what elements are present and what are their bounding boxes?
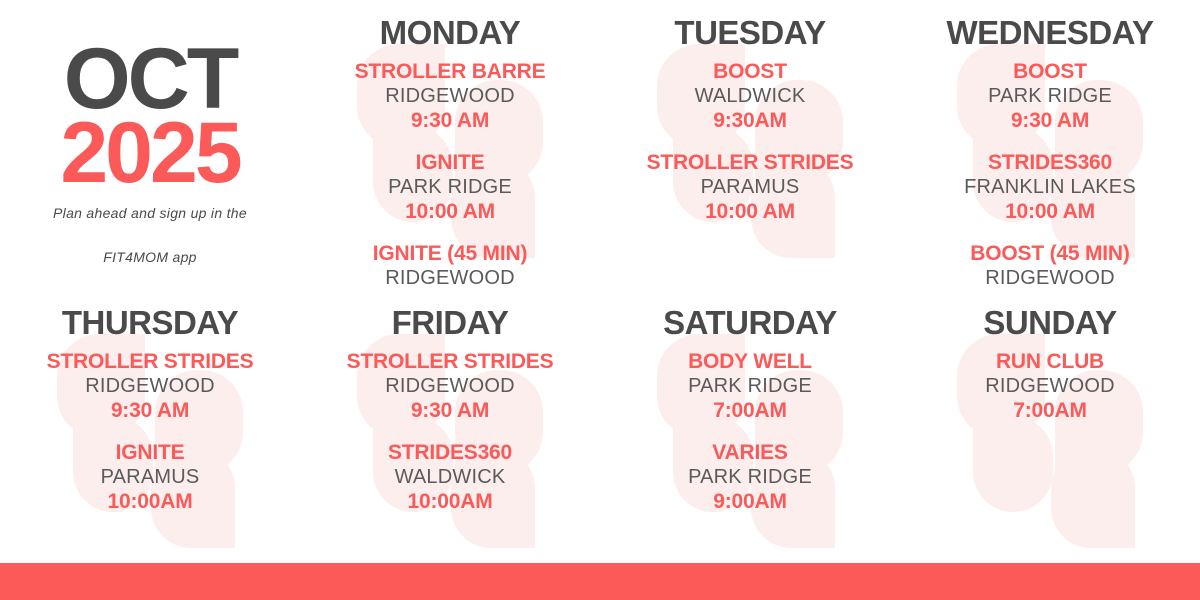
tagline-text: Plan ahead and sign up in the <box>0 204 300 222</box>
day-heading-friday: FRIDAY <box>300 304 600 342</box>
day-heading-sunday: SUNDAY <box>900 304 1200 342</box>
day-heading-wednesday: WEDNESDAY <box>900 14 1200 52</box>
day-column-saturday: SATURDAY BODY WELL PARK RIDGE 7:00AM VAR… <box>600 290 900 563</box>
class-location: WALDWICK <box>300 465 600 489</box>
class-location: WALDWICK <box>600 84 900 108</box>
class-entry[interactable]: IGNITE (45 MIN) RIDGEWOOD 5:00PM <box>300 241 600 290</box>
class-name: STRIDES360 <box>300 440 600 465</box>
class-entry[interactable]: STRIDES360 WALDWICK 10:00AM <box>300 440 600 514</box>
class-entry[interactable]: IGNITE PARAMUS 10:00AM <box>0 440 300 514</box>
day-column-thursday: THURSDAY STROLLER STRIDES RIDGEWOOD 9:30… <box>0 290 300 563</box>
weekly-schedule-grid: OCT 2025 Plan ahead and sign up in the F… <box>0 0 1200 563</box>
class-entry[interactable]: STRIDES360 FRANKLIN LAKES 10:00 AM <box>900 150 1200 224</box>
class-time: 10:00 AM <box>600 199 900 224</box>
class-list-monday: STROLLER BARRE RIDGEWOOD 9:30 AM IGNITE … <box>300 59 600 290</box>
class-time: 9:30 AM <box>900 108 1200 133</box>
class-time: 7:00AM <box>900 398 1200 423</box>
class-location: PARK RIDGE <box>600 374 900 398</box>
class-location: FRANKLIN LAKES <box>900 175 1200 199</box>
class-name: IGNITE <box>300 150 600 175</box>
class-location: RIDGEWOOD <box>300 84 600 108</box>
class-time: 9:30 AM <box>300 108 600 133</box>
class-time: 10:00 AM <box>900 199 1200 224</box>
day-column-monday: MONDAY STROLLER BARRE RIDGEWOOD 9:30 AM … <box>300 0 600 290</box>
class-name: IGNITE <box>0 440 300 465</box>
class-time: 7:00AM <box>600 398 900 423</box>
class-location: RIDGEWOOD <box>0 374 300 398</box>
class-entry[interactable]: STROLLER STRIDES RIDGEWOOD 9:30 AM <box>0 349 300 423</box>
day-column-tuesday: TUESDAY BOOST WALDWICK 9:30AM STROLLER S… <box>600 0 900 290</box>
class-location: PARK RIDGE <box>900 84 1200 108</box>
class-name: STROLLER STRIDES <box>0 349 300 374</box>
year-label: 2025 <box>0 116 300 190</box>
month-title-block: OCT 2025 Plan ahead and sign up in the F… <box>0 0 300 290</box>
class-entry[interactable]: BODY WELL PARK RIDGE 7:00AM <box>600 349 900 423</box>
class-time: 10:00AM <box>300 489 600 514</box>
class-name: STROLLER BARRE <box>300 59 600 84</box>
day-heading-tuesday: TUESDAY <box>600 14 900 52</box>
class-list-friday: STROLLER STRIDES RIDGEWOOD 9:30 AM STRID… <box>300 349 600 514</box>
class-time: 9:30 AM <box>300 398 600 423</box>
class-list-saturday: BODY WELL PARK RIDGE 7:00AM VARIES PARK … <box>600 349 900 514</box>
class-time: 9:00AM <box>600 489 900 514</box>
class-name: STROLLER STRIDES <box>600 150 900 175</box>
class-name: BOOST (45 MIN) <box>900 241 1200 266</box>
class-name: BODY WELL <box>600 349 900 374</box>
class-location: PARK RIDGE <box>600 465 900 489</box>
day-heading-monday: MONDAY <box>300 14 600 52</box>
class-entry[interactable]: BOOST (45 MIN) RIDGEWOOD 5:00PM <box>900 241 1200 290</box>
class-name: BOOST <box>600 59 900 84</box>
class-name: BOOST <box>900 59 1200 84</box>
class-list-tuesday: BOOST WALDWICK 9:30AM STROLLER STRIDES P… <box>600 59 900 224</box>
class-location: PARAMUS <box>600 175 900 199</box>
class-list-thursday: STROLLER STRIDES RIDGEWOOD 9:30 AM IGNIT… <box>0 349 300 514</box>
day-column-sunday: SUNDAY RUN CLUB RIDGEWOOD 7:00AM <box>900 290 1200 563</box>
class-entry[interactable]: STROLLER STRIDES PARAMUS 10:00 AM <box>600 150 900 224</box>
class-location: RIDGEWOOD <box>300 374 600 398</box>
class-list-sunday: RUN CLUB RIDGEWOOD 7:00AM <box>900 349 1200 423</box>
class-entry[interactable]: BOOST PARK RIDGE 9:30 AM <box>900 59 1200 133</box>
day-heading-thursday: THURSDAY <box>0 304 300 342</box>
class-location: RIDGEWOOD <box>900 374 1200 398</box>
class-name: RUN CLUB <box>900 349 1200 374</box>
class-name: VARIES <box>600 440 900 465</box>
day-column-friday: FRIDAY STROLLER STRIDES RIDGEWOOD 9:30 A… <box>300 290 600 563</box>
month-title-stack: OCT 2025 Plan ahead and sign up in the F… <box>0 42 300 266</box>
class-time: 10:00AM <box>0 489 300 514</box>
footer-accent-bar <box>0 563 1200 600</box>
class-location: PARAMUS <box>0 465 300 489</box>
class-entry[interactable]: VARIES PARK RIDGE 9:00AM <box>600 440 900 514</box>
class-name: STRIDES360 <box>900 150 1200 175</box>
day-heading-saturday: SATURDAY <box>600 304 900 342</box>
class-entry[interactable]: STROLLER BARRE RIDGEWOOD 9:30 AM <box>300 59 600 133</box>
class-time: 10:00 AM <box>300 199 600 224</box>
class-entry[interactable]: STROLLER STRIDES RIDGEWOOD 9:30 AM <box>300 349 600 423</box>
class-location: PARK RIDGE <box>300 175 600 199</box>
class-location: RIDGEWOOD <box>300 266 600 290</box>
class-location: RIDGEWOOD <box>900 266 1200 290</box>
app-name-text: FIT4MOM app <box>0 248 300 266</box>
class-list-wednesday: BOOST PARK RIDGE 9:30 AM STRIDES360 FRAN… <box>900 59 1200 290</box>
class-entry[interactable]: BOOST WALDWICK 9:30AM <box>600 59 900 133</box>
day-column-wednesday: WEDNESDAY BOOST PARK RIDGE 9:30 AM STRID… <box>900 0 1200 290</box>
class-time: 9:30AM <box>600 108 900 133</box>
class-time: 9:30 AM <box>0 398 300 423</box>
class-entry[interactable]: RUN CLUB RIDGEWOOD 7:00AM <box>900 349 1200 423</box>
class-entry[interactable]: IGNITE PARK RIDGE 10:00 AM <box>300 150 600 224</box>
class-name: STROLLER STRIDES <box>300 349 600 374</box>
class-name: IGNITE (45 MIN) <box>300 241 600 266</box>
